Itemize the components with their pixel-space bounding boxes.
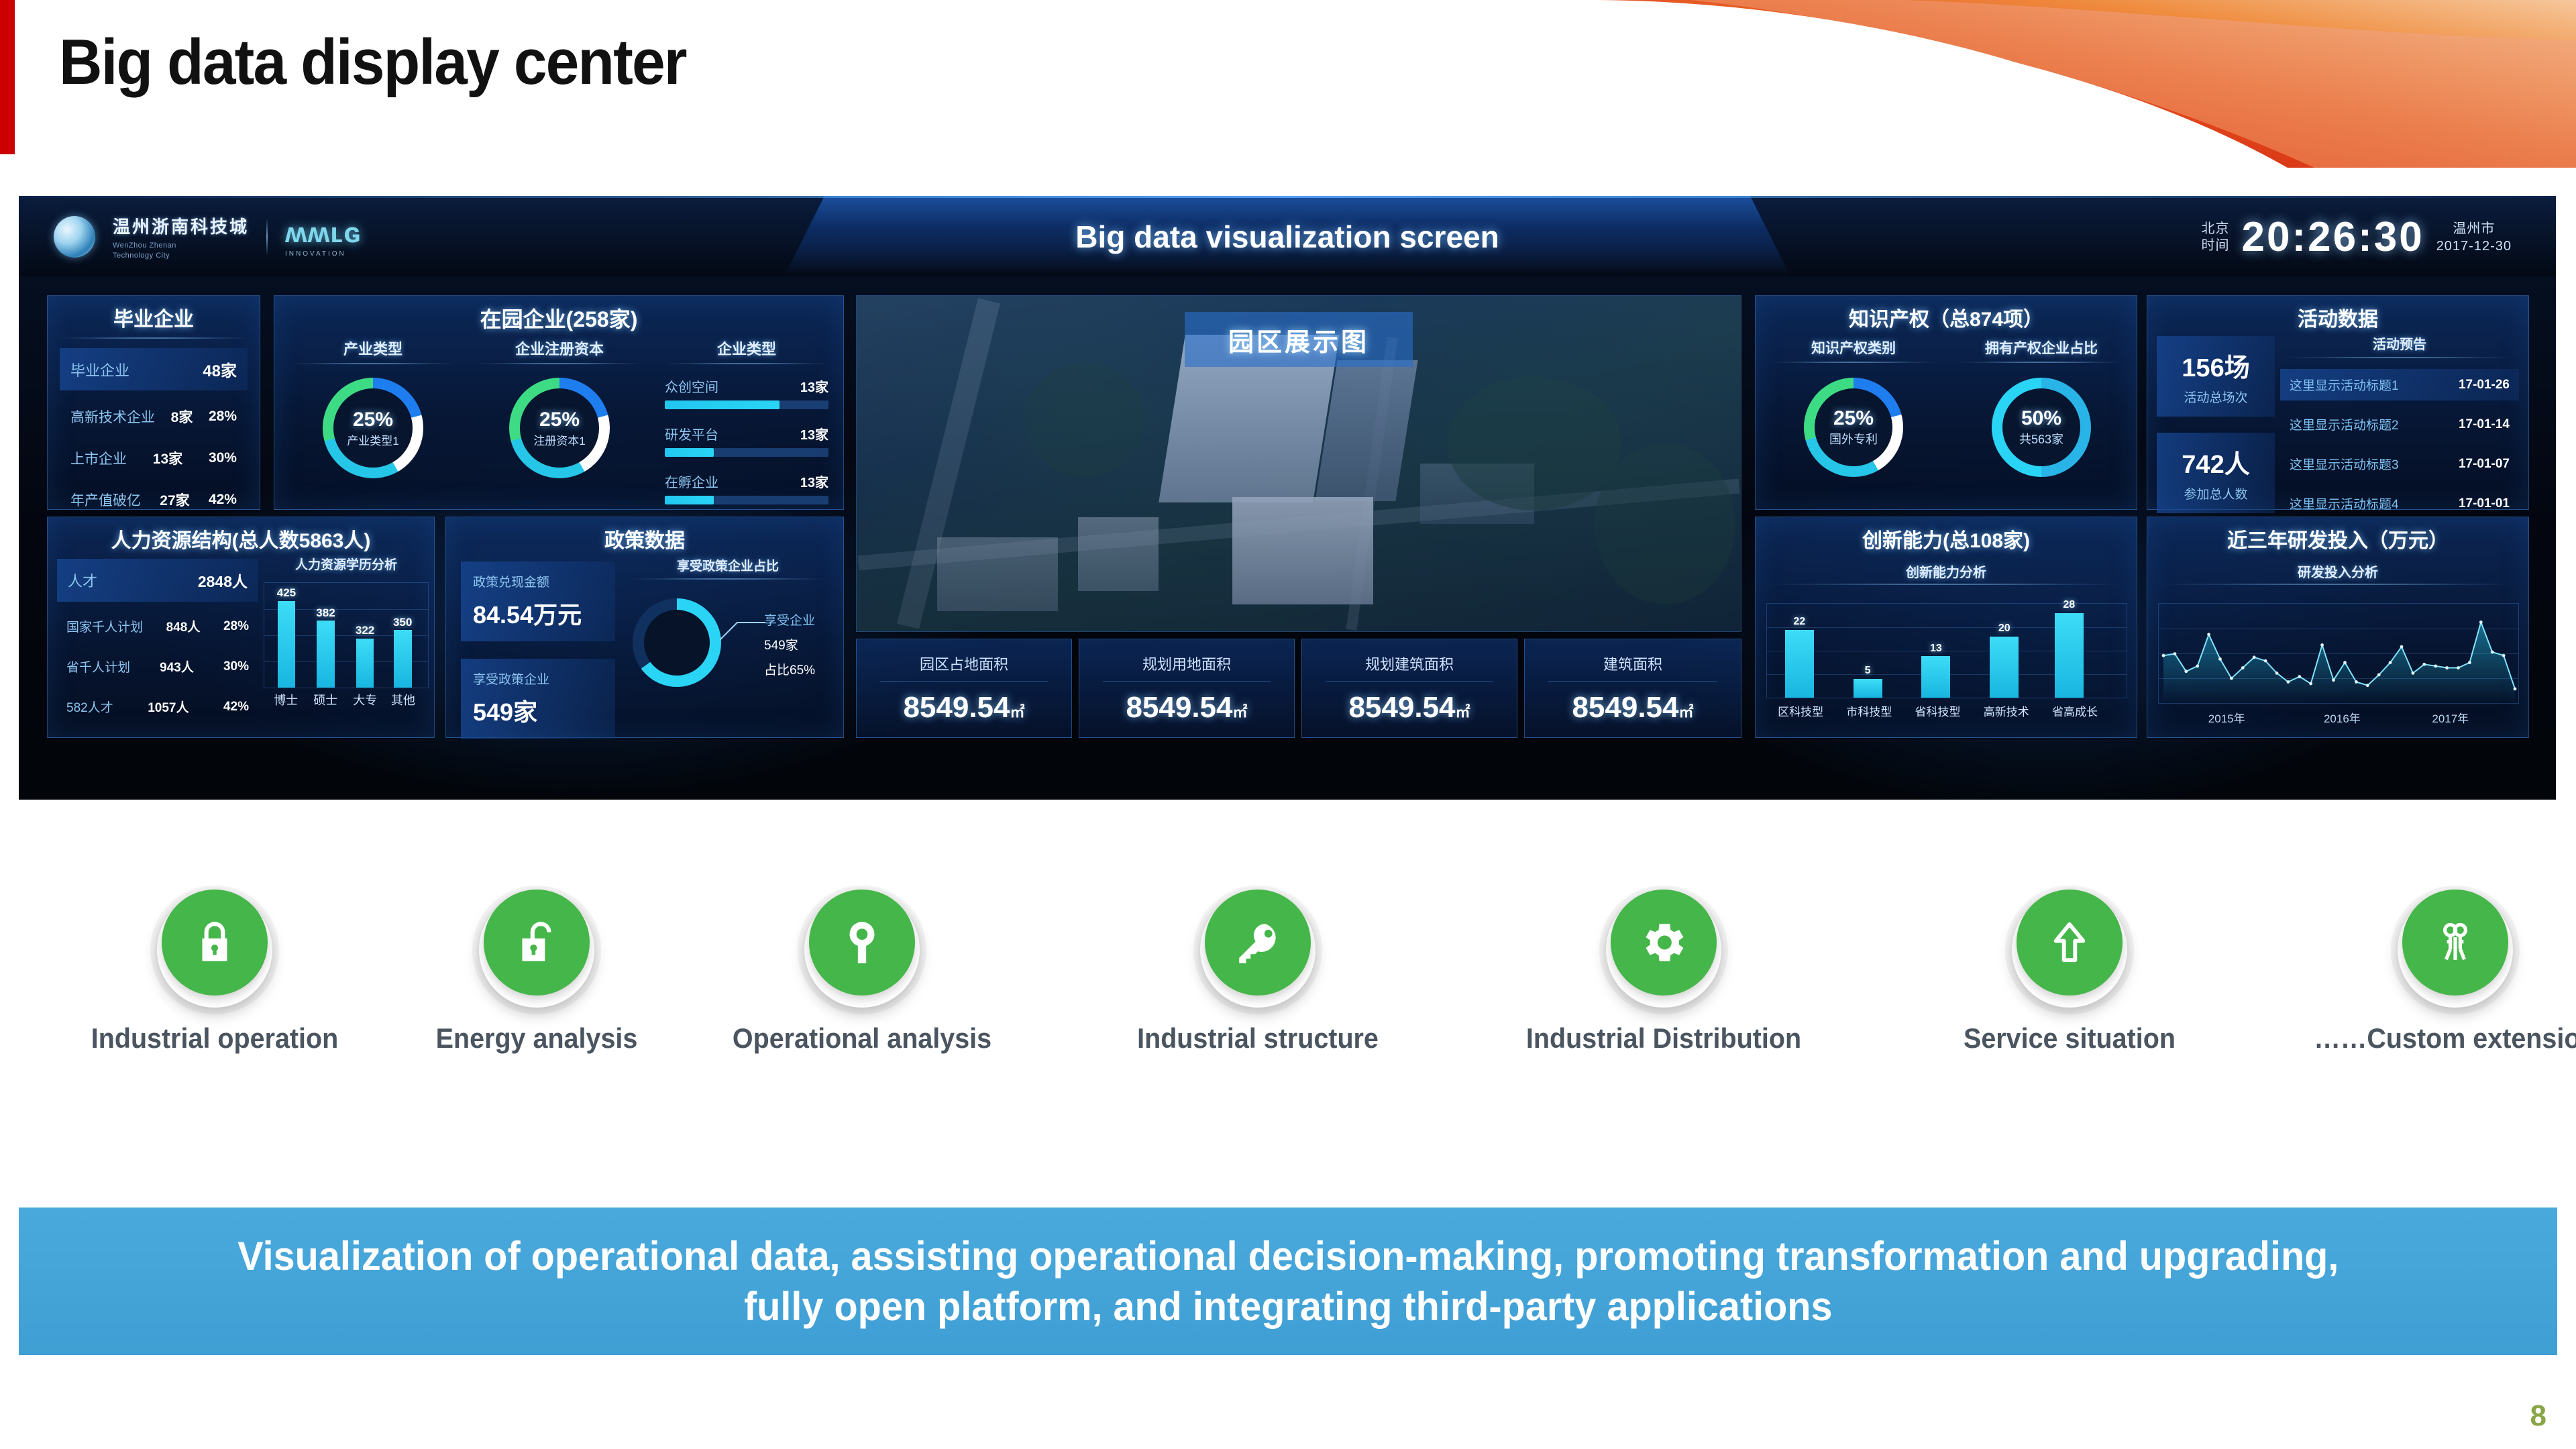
clock-label-line1: 北京 [2202,221,2230,237]
donut-label: 注册资本1 [533,431,585,448]
stat-number: 8549.54 [903,691,1010,724]
panel-hr-structure: 人力资源结构(总人数5863人) 人才 2848人 国家千人计划 848人 28… [47,517,435,738]
row-percent: 30% [209,450,237,466]
activity-title: 这里显示活动标题4 [2290,494,2399,513]
panel-title: 创新能力(总108家) [1756,517,2137,553]
table-row: 人才 2848人 [57,559,258,602]
map-label-badge: 园区展示图 [1185,312,1413,367]
feature-label: ……Custom extension [2314,1022,2576,1055]
subpanel-title: 企业注册资本 [466,337,653,359]
stat-number: 8549.54 [1572,691,1678,724]
table-row: 582人才 1057人 42% [57,691,258,722]
panel-title: 人力资源结构(总人数5863人) [48,517,434,553]
clock-time: 20:26:30 [2242,213,2424,261]
dashboard-screenshot: 温州浙南科技城 WenZhou Zhenan Technology City ʍ… [19,196,2556,800]
axis-tick-label: 高新技术 [1972,702,2041,719]
stat-label: 规划用地面积 [1142,653,1231,674]
card-label: 政策兑现金额 [473,572,603,590]
policy-count-card: 享受政策企业 549家 [461,659,615,739]
panel-title: 活动数据 [2147,296,2528,332]
panel-title: 近三年研发投入（万元） [2147,517,2528,553]
page-title: Big data display center [59,25,686,99]
axis-tick-label: 博士 [267,691,305,708]
summary-banner: Visualization of operational data, assis… [19,1207,2557,1355]
row-label: 高新技术企业 [70,407,155,427]
panel-title: 在园企业(258家) [274,296,843,333]
donut-percent: 25% [1833,407,1874,430]
bar-value: 350 [384,616,421,629]
donut-chart-policy-share [633,598,721,687]
row-percent: 28% [223,619,249,634]
policy-amount-card: 政策兑现金额 84.54万元 [461,561,615,641]
map-label-text: 园区展示图 [1228,321,1369,358]
table-row: 省千人计划 943人 30% [57,651,258,682]
row-value: 943人 [160,657,194,676]
row-label: 582人才 [66,698,113,716]
stat-tile-park-area: 园区占地面积 8549.54㎡ [856,639,1072,738]
feature-label: Industrial operation [91,1022,339,1055]
arrow-up-icon [2045,918,2094,967]
activity-date: 17-01-07 [2459,457,2510,472]
list-item: 这里显示活动标题4 17-01-01 [2280,488,2519,519]
bar [2055,613,2084,698]
stat-value: 8549.54㎡ [1348,691,1470,724]
table-row: 国家千人计划 848人 28% [57,610,258,642]
table-row: 上市企业 13家 30% [60,443,248,474]
partner-logo-subtitle: INNOVATION [285,250,361,258]
stat-value: 8549.54㎡ [1572,691,1693,724]
feature-label: Industrial structure [1137,1022,1379,1055]
list-item: 这里显示活动标题2 17-01-14 [2280,409,2519,440]
bar [394,630,412,688]
progress-bar [665,448,828,457]
red-accent-bar [0,0,15,154]
activity-stat-sessions: 156场 活动总场次 [2157,336,2275,417]
bar-value: 22 [1770,616,1828,628]
row-value: 1057人 [148,698,189,716]
clock-city: 温州市 [2436,220,2512,237]
bar [1854,679,1882,698]
clock-date: 2017-12-30 [2436,237,2512,255]
row-label: 人才 [68,570,97,591]
globe-logo-icon [54,216,95,258]
row-value: 48家 [203,358,237,381]
line-chart-rd-investment [2158,603,2519,704]
clock-label-line2: 时间 [2202,237,2230,254]
list-item: 众创空间 13家 [665,376,828,409]
feature-label: Energy analysis [436,1022,638,1055]
lock-icon [190,918,239,967]
subpanel-title: 产业类型 [280,337,466,359]
activity-title: 这里显示活动标题1 [2290,376,2399,394]
header-swoosh-decoration [1590,0,2576,168]
donut-percent: 25% [539,409,580,431]
axis-tick-label: 其他 [384,691,423,708]
chart-title: 人力资源学历分析 [264,555,429,573]
panel-title: 知识产权（总874项） [1756,296,2137,332]
donut-chart-ip-company-share: 50% 共563家 [1992,378,2091,477]
bar [1785,630,1814,698]
stat-unit: ㎡ [1679,704,1694,720]
panel-title: 政策数据 [446,517,843,553]
table-row: 高新技术企业 8家 28% [60,401,248,432]
feature-label: Operational analysis [733,1022,991,1055]
row-label: 众创空间 [665,376,718,396]
stat-label: 园区占地面积 [920,653,1008,674]
logo-divider [266,218,268,256]
panel-rd-investment: 近三年研发投入（万元） 研发投入分析 2015年 2016年 2017年 [2147,517,2529,738]
stat-value: 8549.54㎡ [903,691,1024,724]
park-logo: 温州浙南科技城 WenZhou Zhenan Technology City ʍ… [54,213,361,261]
feature-label: Service situation [1964,1022,2176,1055]
bar [278,601,296,688]
activity-date: 17-01-01 [2459,496,2510,511]
row-label: 研发平台 [665,424,718,443]
stat-number: 8549.54 [1348,691,1455,724]
bar [1990,637,2019,698]
logo-chinese-name: 温州浙南科技城 [113,213,249,238]
bar-value: 322 [346,624,384,637]
progress-bar [665,496,828,504]
bar-value: 382 [307,606,344,620]
bar-value: 28 [2040,599,2098,611]
stat-label: 参加总人数 [2163,484,2268,502]
panel-policy-data: 政策数据 政策兑现金额 84.54万元 享受政策企业 549家 享受政策企业占比 [445,517,844,738]
activity-date: 17-01-26 [2459,378,2510,392]
row-value: 8家 [171,407,193,427]
subpanel-title: 企业类型 [665,337,828,359]
row-percent: 42% [223,700,249,714]
donut-label: 产业类型1 [347,431,398,448]
dashboard-title: Big data visualization screen [1075,219,1499,255]
key-icon [1233,918,1283,967]
axis-tick-label: 省高成长 [2041,702,2109,719]
table-row: 年产值破亿 27家 42% [60,484,248,515]
legend-name: 享受企业 [764,610,815,629]
axis-tick-label: 硕士 [307,691,345,708]
subpanel-title: 拥有产权企业占比 [1947,337,2135,358]
donut-chart-registered-capital: 25% 注册资本1 [509,378,610,478]
list-item: 研发平台 13家 [665,424,828,457]
keys-icon [2430,918,2480,967]
panel-innovation-capability: 创新能力(总108家) 创新能力分析 22 5 13 20 28 区科技型 市科… [1755,517,2137,738]
row-value: 13家 [800,472,828,491]
list-item: 在孵企业 13家 [665,472,828,504]
progress-bar [665,400,828,409]
list-title: 活动预告 [2280,333,2519,353]
stat-label: 规划建筑面积 [1365,653,1454,674]
card-value: 84.54万元 [473,596,603,631]
panel-activity-data: 活动数据 156场 活动总场次 742人 参加总人数 活动预告 这里显示活动标题… [2147,295,2529,510]
axis-tick-label: 区科技型 [1766,702,1835,719]
bar-chart-hr-education: 425 382 322 350 [264,582,429,688]
logo-english-line2: Technology City [113,251,249,261]
list-item: 这里显示活动标题1 17-01-26 [2280,369,2519,400]
row-label: 毕业企业 [70,359,129,380]
panel-title: 毕业企业 [48,296,260,332]
stat-tile-building-area: 建筑面积 8549.54㎡ [1524,639,1741,738]
panel-in-park-enterprises: 在园企业(258家) 产业类型 25% 产业类型1 企业注册资本 [274,295,844,510]
chart-title: 享受政策企业占比 [622,556,834,574]
list-item: 这里显示活动标题3 17-01-07 [2280,448,2519,480]
row-label: 国家千人计划 [66,617,143,635]
row-value: 2848人 [198,569,248,592]
chart-title: 创新能力分析 [1756,561,2137,581]
subpanel-title: 知识产权类别 [1760,337,1947,358]
bar-chart-innovation: 22 5 13 20 28 [1766,603,2127,698]
donut-label: 国外专利 [1829,430,1878,447]
activity-title: 这里显示活动标题3 [2290,455,2399,473]
bar-value: 20 [1976,623,2033,635]
axis-tick-label: 2017年 [2411,709,2490,726]
axis-tick-label: 省科技型 [1903,702,1972,719]
table-row: 毕业企业 48家 [60,348,248,390]
axis-tick-label: 2016年 [2302,709,2381,726]
legend-percent: 占比65% [764,660,815,678]
axis-tick-label: 市科技型 [1835,702,1903,719]
row-value: 848人 [166,617,201,635]
banner-line-2: fully open platform, and integrating thi… [237,1281,2339,1332]
bar-value: 5 [1839,665,1896,677]
stat-value: 742人 [2163,443,2268,480]
legend-value: 549家 [764,635,815,653]
stat-label: 活动总场次 [2163,388,2268,406]
feature-icon-row: Industrial operation Energy analysis Ope… [0,884,2576,1166]
stat-number: 8549.54 [1126,691,1232,724]
panel-graduated-enterprises: 毕业企业 毕业企业 48家 高新技术企业 8家 28% 上市企业 13家 30%… [47,295,260,510]
activity-title: 这里显示活动标题2 [2290,415,2399,433]
activity-stat-attendees: 742人 参加总人数 [2157,433,2275,513]
card-value: 549家 [473,693,603,728]
keyhole-icon [837,918,887,967]
stat-unit: ㎡ [1456,704,1470,720]
row-label: 在孵企业 [665,472,718,491]
feature-label: Industrial Distribution [1526,1022,1801,1055]
row-percent: 42% [209,492,237,508]
bar [356,639,374,688]
activity-date: 17-01-14 [2459,417,2510,432]
banner-line-1: Visualization of operational data, assis… [237,1231,2339,1281]
stat-unit: ㎡ [1233,704,1248,720]
row-label: 年产值破亿 [70,490,141,510]
row-value: 13家 [800,424,828,443]
stat-label: 建筑面积 [1603,653,1662,674]
logo-english-line1: WenZhou Zhenan [113,241,249,251]
donut-percent: 25% [353,409,393,431]
panel-intellectual-property: 知识产权（总874项） 知识产权类别 25% 国外专利 拥有产权企业占比 50% [1755,295,2137,510]
stat-unit: ㎡ [1010,704,1025,720]
bar-value: 425 [268,586,305,600]
row-value: 27家 [160,490,189,510]
clock-widget: 北京 时间 20:26:30 温州市 2017-12-30 [2202,213,2512,261]
bar-value: 13 [1907,643,1965,655]
dashboard-header: 温州浙南科技城 WenZhou Zhenan Technology City ʍ… [19,196,2556,276]
partner-logo-mark: ʍʍʟɢ [285,217,361,249]
axis-tick-label: 2015年 [2187,709,2266,726]
row-label: 上市企业 [70,448,127,468]
gear-icon [1639,918,1688,967]
stat-tile-planned-land: 规划用地面积 8549.54㎡ [1079,639,1295,738]
bar [1921,656,1950,698]
chart-title: 研发投入分析 [2147,561,2528,581]
stat-value: 8549.54㎡ [1126,691,1247,724]
stat-value: 156场 [2163,347,2268,384]
row-percent: 30% [223,659,249,674]
stat-tile-planned-building: 规划建筑面积 8549.54㎡ [1301,639,1517,738]
row-value: 13家 [153,448,182,468]
donut-chart-ip-category: 25% 国外专利 [1804,378,1903,477]
axis-tick-label: 大专 [346,691,384,708]
row-label: 省千人计划 [66,657,130,676]
row-percent: 28% [209,409,237,425]
page-number: 8 [2530,1399,2546,1433]
donut-percent: 50% [2021,407,2061,430]
unlock-icon [512,918,561,967]
row-value: 13家 [800,376,828,396]
bar [317,621,335,688]
donut-label: 共563家 [2019,430,2063,447]
card-label: 享受政策企业 [473,669,603,688]
donut-chart-industry-type: 25% 产业类型1 [323,378,423,478]
park-aerial-map: 园区展示图 [856,295,1741,632]
